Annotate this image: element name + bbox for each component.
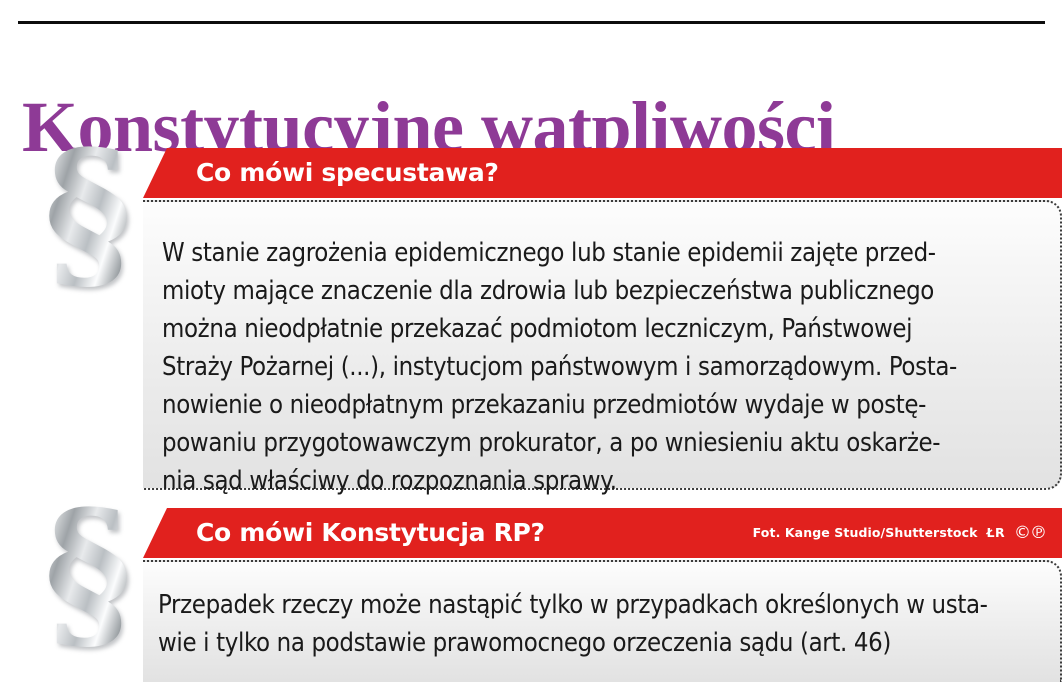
- section-banner-specustawa: Co mówi specustawa?: [143, 148, 1062, 198]
- paragraph-symbol-icon: §: [34, 497, 142, 657]
- section-banner-konstytucja: Co mówi Konstytucja RP? Fot. Kange Studi…: [143, 508, 1062, 558]
- photo-credit-source: Fot. Kange Studio/Shutterstock: [753, 526, 978, 540]
- copyright-marks-icon: ©℗: [1014, 525, 1046, 542]
- author-initials: ŁR: [987, 526, 1005, 540]
- banner-title-konstytucja: Co mówi Konstytucja RP?: [196, 518, 545, 548]
- body-text-specustawa: W stanie zagrożenia epidemicznego lub st…: [162, 234, 1052, 500]
- body-text-konstytucja: Przepadek rzeczy może nastąpić tylko w p…: [158, 586, 1048, 662]
- paragraph-symbol-glyph: §: [34, 137, 142, 297]
- infographic-page: Konstytucyjne wątpliwości § Co mówi spec…: [0, 0, 1062, 682]
- top-divider-rule: [18, 21, 1045, 24]
- banner-title-specustawa: Co mówi specustawa?: [196, 158, 499, 188]
- paragraph-symbol-glyph: §: [34, 497, 142, 657]
- photo-credit: Fot. Kange Studio/Shutterstock ŁR ©℗: [753, 525, 1046, 542]
- paragraph-symbol-icon: §: [34, 137, 142, 297]
